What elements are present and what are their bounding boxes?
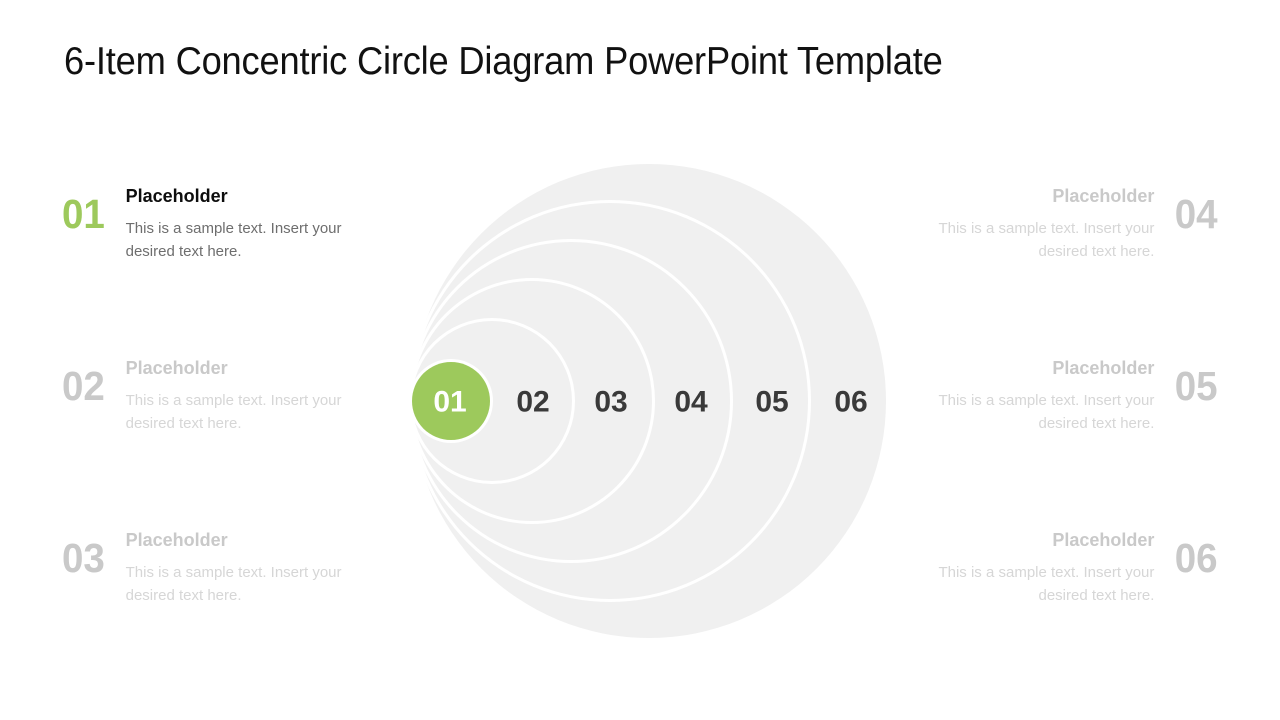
ring-01[interactable]: [412, 362, 490, 440]
ring-label-05: 05: [755, 386, 788, 419]
ring-label-06: 06: [834, 386, 867, 419]
ring-06[interactable]: [412, 164, 886, 638]
list-item[interactable]: 05 Placeholder This is a sample text. In…: [888, 358, 1218, 435]
ring-label-03: 03: [594, 386, 627, 419]
item-heading: Placeholder: [888, 186, 1154, 208]
item-heading: Placeholder: [126, 530, 392, 552]
item-heading: Placeholder: [126, 358, 392, 380]
item-text: This is a sample text. Insert your desir…: [888, 561, 1154, 608]
item-text: This is a sample text. Insert your desir…: [126, 561, 392, 608]
page-title: 6-Item Concentric Circle Diagram PowerPo…: [64, 40, 1143, 84]
ring-05[interactable]: [412, 203, 808, 599]
item-number: 02: [62, 366, 105, 407]
item-text: This is a sample text. Insert your desir…: [888, 389, 1154, 436]
ring-label-04: 04: [674, 386, 708, 419]
list-item[interactable]: 02 Placeholder This is a sample text. In…: [62, 358, 392, 435]
item-body: Placeholder This is a sample text. Inser…: [888, 186, 1154, 263]
ring-separator-05: [409, 200, 811, 602]
item-body: Placeholder This is a sample text. Inser…: [126, 530, 392, 607]
ring-separator-01: [409, 359, 493, 443]
ring-separator-06: [409, 161, 889, 641]
ring-labels: 060504030201: [433, 386, 867, 419]
ring-shapes: [409, 161, 889, 641]
list-item[interactable]: 04 Placeholder This is a sample text. In…: [888, 186, 1218, 263]
item-number: 03: [62, 538, 105, 579]
ring-02[interactable]: [412, 321, 572, 481]
ring-separator-02: [409, 318, 575, 484]
item-number: 06: [1175, 538, 1218, 579]
item-number: 05: [1175, 366, 1218, 407]
list-item[interactable]: 01 Placeholder This is a sample text. In…: [62, 186, 392, 263]
item-body: Placeholder This is a sample text. Inser…: [888, 358, 1154, 435]
ring-03[interactable]: [412, 281, 652, 521]
item-heading: Placeholder: [888, 530, 1154, 552]
item-heading: Placeholder: [126, 186, 392, 208]
item-body: Placeholder This is a sample text. Inser…: [126, 358, 392, 435]
item-body: Placeholder This is a sample text. Inser…: [126, 186, 392, 263]
item-text: This is a sample text. Insert your desir…: [126, 389, 392, 436]
item-text: This is a sample text. Insert your desir…: [888, 217, 1154, 264]
ring-separator-04: [409, 239, 733, 563]
item-heading: Placeholder: [888, 358, 1154, 380]
list-item[interactable]: 06 Placeholder This is a sample text. In…: [888, 530, 1218, 607]
ring-04[interactable]: [412, 242, 730, 560]
item-text: This is a sample text. Insert your desir…: [126, 217, 392, 264]
item-number: 01: [62, 194, 105, 235]
ring-label-01: 01: [433, 386, 466, 419]
list-item[interactable]: 03 Placeholder This is a sample text. In…: [62, 530, 392, 607]
item-body: Placeholder This is a sample text. Inser…: [888, 530, 1154, 607]
ring-label-02: 02: [516, 386, 549, 419]
ring-separator-03: [409, 278, 655, 524]
item-number: 04: [1175, 194, 1218, 235]
